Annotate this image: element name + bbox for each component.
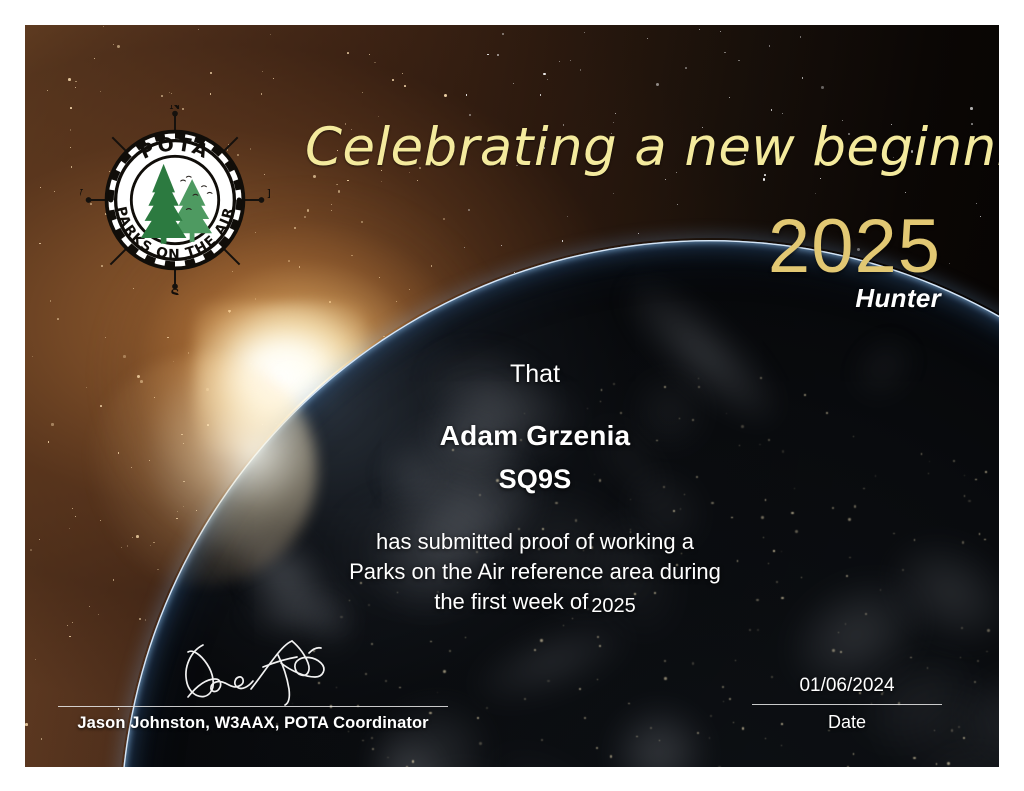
city-light [387, 757, 389, 759]
city-light [524, 698, 526, 700]
signature-caption: Jason Johnston, W3AAX, POTA Coordinator [58, 714, 448, 733]
recipient-name: Adam Grzenia [295, 420, 775, 452]
city-light [710, 715, 711, 716]
pota-logo: N E S W POTA PARKS ON THE AIR [80, 105, 270, 295]
pota-compass-icon: N E S W POTA PARKS ON THE AIR [80, 105, 270, 295]
body-paragraph: has submitted proof of working a Parks o… [295, 527, 775, 618]
signature-block: Jason Johnston, W3AAX, POTA Coordinator [58, 706, 448, 733]
city-light [832, 649, 835, 652]
city-light [479, 742, 482, 745]
city-light [540, 639, 542, 641]
city-light [826, 412, 828, 414]
city-light [477, 717, 479, 719]
body-line-3: the first week of2025 [295, 587, 775, 618]
city-light [968, 500, 971, 503]
body-line-1: has submitted proof of working a [295, 527, 775, 557]
city-light [718, 766, 721, 767]
city-light [974, 681, 976, 683]
date-rule [752, 704, 942, 705]
city-light [958, 726, 960, 728]
city-light [910, 657, 912, 659]
city-light [443, 670, 446, 673]
certificate-body: That Adam Grzenia SQ9S has submitted pro… [295, 360, 775, 618]
recipient-callsign: SQ9S [295, 464, 775, 495]
city-light [963, 737, 965, 739]
city-light [832, 507, 834, 509]
city-light [986, 651, 987, 652]
city-light [664, 677, 667, 680]
city-light [947, 762, 950, 765]
date-block: 01/06/2024 Date [752, 675, 942, 733]
city-light [406, 766, 408, 767]
city-light [412, 760, 414, 762]
city-light [794, 488, 795, 489]
compass-label-s: S [171, 286, 180, 295]
certificate-canvas: N E S W POTA PARKS ON THE AIR [25, 25, 999, 767]
compass-label-w: W [80, 186, 83, 201]
compass-label-e: E [267, 186, 270, 201]
city-light [534, 649, 536, 651]
city-light [733, 722, 734, 723]
city-light [610, 755, 612, 757]
city-light [372, 748, 374, 750]
city-light [782, 450, 784, 452]
city-light [927, 667, 928, 668]
body-line-2: Parks on the Air reference area during [295, 557, 775, 587]
city-light [847, 766, 849, 768]
date-caption: Date [752, 712, 942, 733]
city-light [880, 589, 882, 591]
city-light [547, 680, 550, 683]
certificate-year: 2025 [768, 203, 941, 290]
city-light [795, 530, 798, 533]
signature-image [163, 637, 353, 709]
date-value: 01/06/2024 [752, 675, 942, 697]
city-light [781, 745, 782, 746]
award-class-badge: Hunter [855, 283, 941, 314]
city-light [875, 475, 876, 476]
city-light [961, 627, 963, 629]
signature-icon [163, 637, 353, 709]
city-light [399, 687, 400, 688]
body-inline-year: 2025 [591, 595, 636, 617]
compass-label-n: N [169, 105, 180, 112]
city-light [854, 505, 856, 507]
city-light [781, 597, 784, 600]
city-light [953, 460, 955, 462]
city-light [849, 557, 850, 558]
certificate-title: Celebrating a new beginning [305, 117, 985, 178]
body-line-3-text: the first week of [434, 589, 588, 614]
city-light [541, 739, 543, 741]
city-light [979, 533, 980, 534]
city-light [757, 629, 759, 631]
city-light [385, 680, 387, 682]
that-label: That [295, 360, 775, 389]
city-light [913, 757, 915, 759]
city-light [597, 679, 598, 680]
city-light [987, 629, 990, 632]
city-light [951, 729, 953, 731]
city-light [628, 703, 630, 705]
city-light [848, 518, 850, 520]
